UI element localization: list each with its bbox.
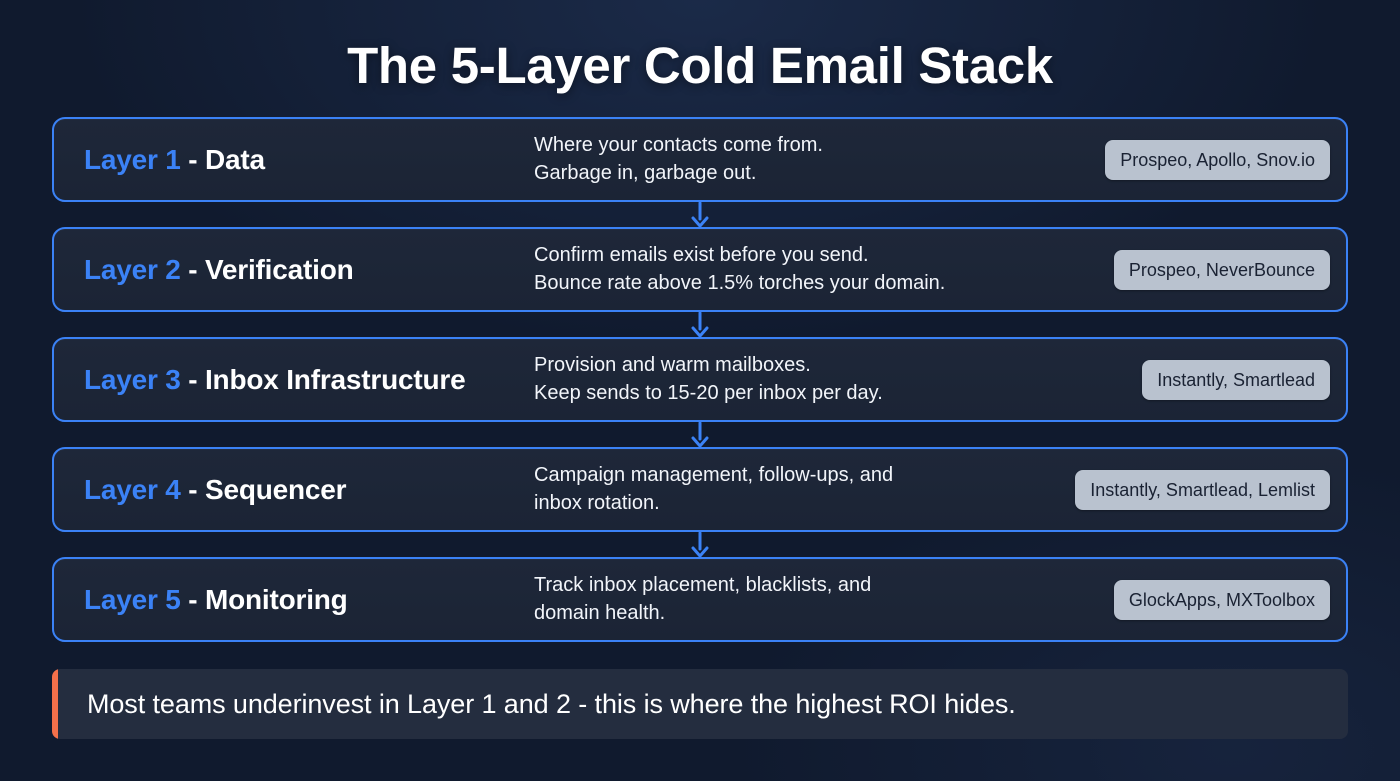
layer-description-line-1: Where your contacts come from. xyxy=(534,132,1091,160)
layer-title-3: Layer 3 - Inbox Infrastructure xyxy=(84,364,534,396)
layer-row-4[interactable]: Layer 4 - Sequencer Campaign management,… xyxy=(52,447,1348,532)
layer-name-2: Verification xyxy=(205,254,354,285)
layer-description-line-1: Campaign management, follow-ups, and xyxy=(534,462,1061,490)
infographic-page: The 5-Layer Cold Email Stack Layer 1 - D… xyxy=(0,0,1400,781)
layer-dash-2: - xyxy=(181,254,205,285)
layer-description-1: Where your contacts come from. Garbage i… xyxy=(534,132,1105,187)
layer-tools-pill-4[interactable]: Instantly, Smartlead, Lemlist xyxy=(1075,470,1330,510)
layer-description-3: Provision and warm mailboxes. Keep sends… xyxy=(534,352,1142,407)
layer-description-line-2: inbox rotation. xyxy=(534,490,1061,518)
connector-4 xyxy=(52,532,1348,557)
arrow-down-icon xyxy=(689,422,711,448)
layer-dash-5: - xyxy=(181,584,205,615)
layer-tools-pill-5[interactable]: GlockApps, MXToolbox xyxy=(1114,580,1330,620)
layer-number-4: Layer 4 xyxy=(84,474,181,505)
layer-name-3: Inbox Infrastructure xyxy=(205,364,465,395)
layer-description-line-2: Garbage in, garbage out. xyxy=(534,160,1091,188)
layer-tools-pill-2[interactable]: Prospeo, NeverBounce xyxy=(1114,250,1330,290)
connector-3 xyxy=(52,422,1348,447)
layer-number-1: Layer 1 xyxy=(84,144,181,175)
layer-description-4: Campaign management, follow-ups, and inb… xyxy=(534,462,1075,517)
layer-stack: Layer 1 - Data Where your contacts come … xyxy=(52,117,1348,642)
layer-title-5: Layer 5 - Monitoring xyxy=(84,584,534,616)
layer-dash-4: - xyxy=(181,474,205,505)
layer-dash-3: - xyxy=(181,364,205,395)
layer-description-line-2: Keep sends to 15-20 per inbox per day. xyxy=(534,380,1128,408)
layer-row-1[interactable]: Layer 1 - Data Where your contacts come … xyxy=(52,117,1348,202)
layer-name-1: Data xyxy=(205,144,265,175)
layer-title-2: Layer 2 - Verification xyxy=(84,254,534,286)
layer-title-4: Layer 4 - Sequencer xyxy=(84,474,534,506)
callout-text: Most teams underinvest in Layer 1 and 2 … xyxy=(58,689,1016,720)
connector-2 xyxy=(52,312,1348,337)
layer-description-line-1: Confirm emails exist before you send. xyxy=(534,242,1100,270)
layer-description-5: Track inbox placement, blacklists, and d… xyxy=(534,572,1114,627)
layer-description-line-2: Bounce rate above 1.5% torches your doma… xyxy=(534,270,1100,298)
layer-name-4: Sequencer xyxy=(205,474,346,505)
layer-description-line-1: Provision and warm mailboxes. xyxy=(534,352,1128,380)
layer-row-5[interactable]: Layer 5 - Monitoring Track inbox placeme… xyxy=(52,557,1348,642)
layer-title-1: Layer 1 - Data xyxy=(84,144,534,176)
layer-row-3[interactable]: Layer 3 - Inbox Infrastructure Provision… xyxy=(52,337,1348,422)
layer-description-line-2: domain health. xyxy=(534,600,1100,628)
page-title: The 5-Layer Cold Email Stack xyxy=(52,0,1348,94)
layer-name-5: Monitoring xyxy=(205,584,348,615)
connector-1 xyxy=(52,202,1348,227)
layer-number-5: Layer 5 xyxy=(84,584,181,615)
layer-number-3: Layer 3 xyxy=(84,364,181,395)
layer-number-2: Layer 2 xyxy=(84,254,181,285)
layer-row-2[interactable]: Layer 2 - Verification Confirm emails ex… xyxy=(52,227,1348,312)
arrow-down-icon xyxy=(689,202,711,228)
arrow-down-icon xyxy=(689,312,711,338)
layer-tools-pill-1[interactable]: Prospeo, Apollo, Snov.io xyxy=(1105,140,1330,180)
layer-tools-pill-3[interactable]: Instantly, Smartlead xyxy=(1142,360,1330,400)
layer-description-line-1: Track inbox placement, blacklists, and xyxy=(534,572,1100,600)
layer-dash-1: - xyxy=(181,144,205,175)
arrow-down-icon xyxy=(689,532,711,558)
footer-callout: Most teams underinvest in Layer 1 and 2 … xyxy=(52,669,1348,739)
layer-description-2: Confirm emails exist before you send. Bo… xyxy=(534,242,1114,297)
